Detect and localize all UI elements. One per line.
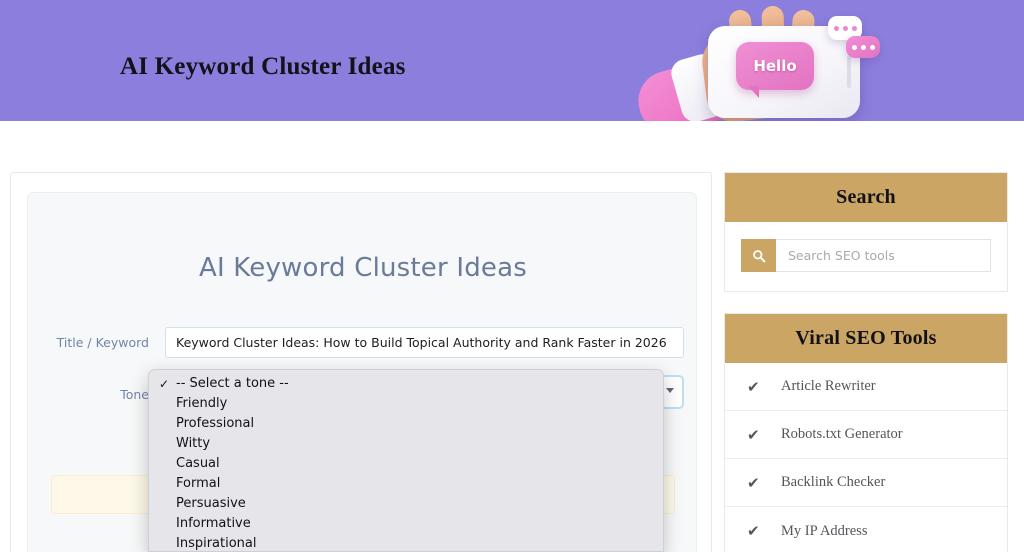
form-heading: AI Keyword Cluster Ideas xyxy=(28,253,698,283)
list-item[interactable]: ✔ My IP Address xyxy=(725,507,1007,552)
tone-field-label: Tone xyxy=(28,387,149,402)
tone-option-label: -- Select a tone -- xyxy=(176,376,289,391)
hero-small-bubble-icon xyxy=(846,36,880,58)
hero-speech-bubble-icon: Hello xyxy=(736,42,814,90)
title-keyword-input[interactable]: Keyword Cluster Ideas: How to Build Topi… xyxy=(165,327,684,358)
title-field-label: Title / Keyword xyxy=(28,335,149,350)
check-icon: ✔ xyxy=(747,426,781,444)
search-widget: Search Search SEO tools xyxy=(724,172,1008,292)
tone-option[interactable]: Formal xyxy=(149,474,663,494)
tone-dropdown-list[interactable]: ✓ -- Select a tone -- Friendly Professio… xyxy=(148,369,664,552)
tone-option[interactable]: Casual xyxy=(149,454,663,474)
hero-phone-button xyxy=(847,56,851,88)
tone-option[interactable]: Witty xyxy=(149,434,663,454)
page-content: AI Keyword Cluster Ideas Title / Keyword… xyxy=(0,121,1024,552)
tone-option-label: Witty xyxy=(176,436,210,451)
search-icon xyxy=(752,249,766,263)
search-button[interactable] xyxy=(741,239,776,272)
tools-widget-title: Viral SEO Tools xyxy=(725,314,1007,363)
list-item[interactable]: ✔ Article Rewriter xyxy=(725,363,1007,411)
search-form: Search SEO tools xyxy=(741,239,991,272)
tool-label: Robots.txt Generator xyxy=(781,426,903,443)
check-icon: ✓ xyxy=(159,374,169,394)
tone-option-label: Informative xyxy=(176,516,251,531)
tone-option-label: Inspirational xyxy=(176,536,257,551)
tone-option-label: Professional xyxy=(176,416,254,431)
viral-seo-tools-widget: Viral SEO Tools ✔ Article Rewriter ✔ Rob… xyxy=(724,313,1008,552)
check-icon: ✔ xyxy=(747,474,781,492)
tone-option[interactable]: Professional xyxy=(149,414,663,434)
tone-option-label: Persuasive xyxy=(176,496,246,511)
search-widget-title: Search xyxy=(725,173,1007,222)
tone-option-label: Friendly xyxy=(176,396,227,411)
tool-label: My IP Address xyxy=(781,523,867,540)
tone-option[interactable]: Informative xyxy=(149,514,663,534)
chevron-down-icon xyxy=(666,388,674,393)
tools-list: ✔ Article Rewriter ✔ Robots.txt Generato… xyxy=(725,363,1007,552)
page-root: AI Keyword Cluster Ideas Hello xyxy=(0,0,1024,552)
tone-option[interactable]: Friendly xyxy=(149,394,663,414)
tone-option-label: Casual xyxy=(176,456,220,471)
check-icon: ✔ xyxy=(747,378,781,396)
tone-option[interactable]: ✓ -- Select a tone -- xyxy=(149,374,663,394)
page-title: AI Keyword Cluster Ideas xyxy=(120,53,406,81)
tool-label: Article Rewriter xyxy=(781,378,876,395)
list-item[interactable]: ✔ Backlink Checker xyxy=(725,459,1007,507)
site-header: AI Keyword Cluster Ideas Hello xyxy=(0,0,1024,121)
tone-option[interactable]: Inspirational xyxy=(149,534,663,552)
tone-option[interactable]: Persuasive xyxy=(149,494,663,514)
check-icon: ✔ xyxy=(747,522,781,540)
list-item[interactable]: ✔ Robots.txt Generator xyxy=(725,411,1007,459)
tone-option-label: Formal xyxy=(176,476,220,491)
sidebar: Search Search SEO tools Viral SEO T xyxy=(724,172,1008,552)
tool-label: Backlink Checker xyxy=(781,474,885,491)
search-widget-body: Search SEO tools xyxy=(725,222,1007,291)
search-input[interactable]: Search SEO tools xyxy=(776,239,991,272)
hero-bubble-text: Hello xyxy=(736,42,814,90)
hero-illustration: Hello xyxy=(620,0,920,121)
